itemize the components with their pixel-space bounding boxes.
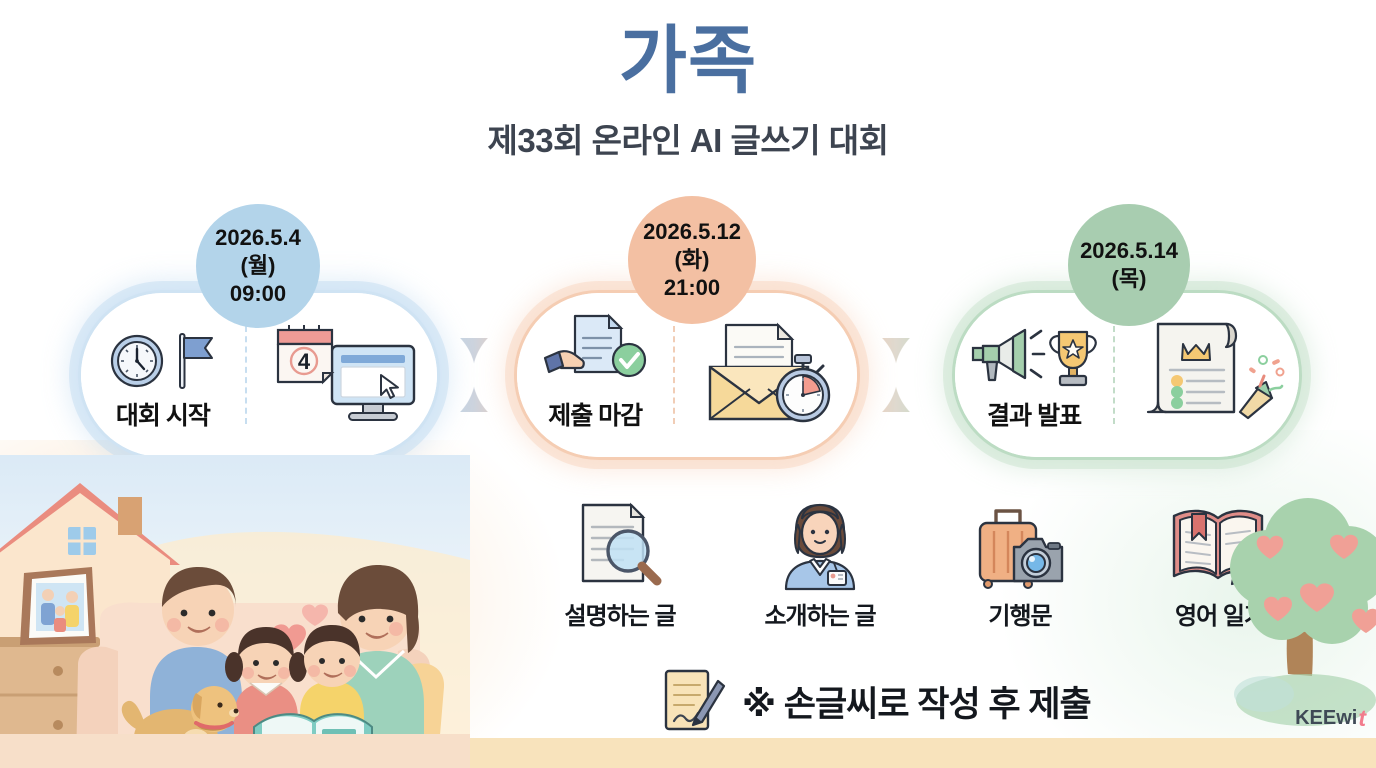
- card-results-label: 결과 발표: [987, 396, 1081, 432]
- bubble-start-weekday: (월): [241, 252, 276, 280]
- bubble-start-date: 2026.5.4: [215, 224, 301, 252]
- clock-flag-icons: [108, 318, 218, 392]
- scroll-certificate-icon: [1132, 316, 1282, 434]
- category-list: 설명하는 글 소: [520, 500, 1320, 640]
- envelope-letter-icon: [700, 319, 832, 431]
- category-item-introduction[interactable]: 소개하는 글: [720, 500, 920, 640]
- bubble-deadline-date: 2026.5.12: [643, 218, 741, 246]
- megaphone-icon: [969, 322, 1045, 392]
- card-deadline-left: 제출 마감: [517, 293, 673, 457]
- connector-blue-orange: [426, 338, 522, 412]
- category-label: 소개하는 글: [764, 596, 875, 631]
- clock-icon: [108, 330, 170, 392]
- category-label: 설명하는 글: [564, 596, 675, 631]
- bubble-deadline-weekday: (화): [675, 246, 710, 274]
- bubble-results-date: 2026.5.14: [1080, 237, 1178, 265]
- note-text: ※ 손글씨로 작성 후 제출: [742, 676, 1091, 727]
- flag-icon: [172, 328, 218, 392]
- date-bubble-results: 2026.5.14 (목): [1068, 204, 1190, 326]
- category-label: 기행문: [988, 596, 1051, 631]
- card-start-left: 대회 시작: [81, 293, 245, 457]
- connector-orange-green: [848, 338, 944, 412]
- logo-text: KEEwi: [1295, 707, 1357, 730]
- card-results-left: 결과 발표: [955, 293, 1113, 457]
- poster-stage: 가족 제33회 온라인 AI 글쓰기 대회: [0, 0, 1376, 768]
- megaphone-trophy-icons: [969, 318, 1099, 392]
- page-title: 가족: [0, 22, 1376, 100]
- notepad-pencil-icon: [660, 665, 726, 737]
- logo-accent-letter: t: [1358, 705, 1366, 732]
- family-reading-illustration: [0, 455, 470, 768]
- category-item-travelogue[interactable]: 기행문: [920, 500, 1120, 640]
- submission-note: ※ 손글씨로 작성 후 제출: [660, 665, 1091, 737]
- document-magnifier-icon: [573, 500, 667, 592]
- date-bubble-deadline: 2026.5.12 (화) 21:00: [628, 196, 756, 324]
- card-start-label: 대회 시작: [116, 396, 210, 432]
- hand-document-icon: [541, 310, 649, 392]
- bubble-start-time: 09:00: [230, 280, 286, 308]
- date-bubble-start: 2026.5.4 (월) 09:00: [196, 204, 320, 328]
- floor-strip-left: [0, 734, 470, 768]
- poster-header: 가족 제33회 온라인 AI 글쓰기 대회: [0, 22, 1376, 162]
- calendar-day: 4: [298, 349, 311, 374]
- bubble-results-weekday: (목): [1112, 265, 1147, 293]
- suitcase-camera-icon: [970, 500, 1070, 592]
- person-badge-icon: [776, 500, 864, 592]
- party-popper-icon: [1240, 356, 1284, 418]
- category-item-explanatory[interactable]: 설명하는 글: [520, 500, 720, 640]
- calendar-icon: 4: [273, 321, 343, 391]
- hand-document-check-icons: [541, 318, 649, 392]
- bubble-deadline-time: 21:00: [664, 274, 720, 302]
- card-deadline-label: 제출 마감: [548, 396, 642, 432]
- trophy-icon: [1047, 326, 1099, 392]
- page-subtitle: 제33회 온라인 AI 글쓰기 대회: [0, 114, 1376, 162]
- keewit-logo[interactable]: KEEwi t: [1295, 705, 1366, 732]
